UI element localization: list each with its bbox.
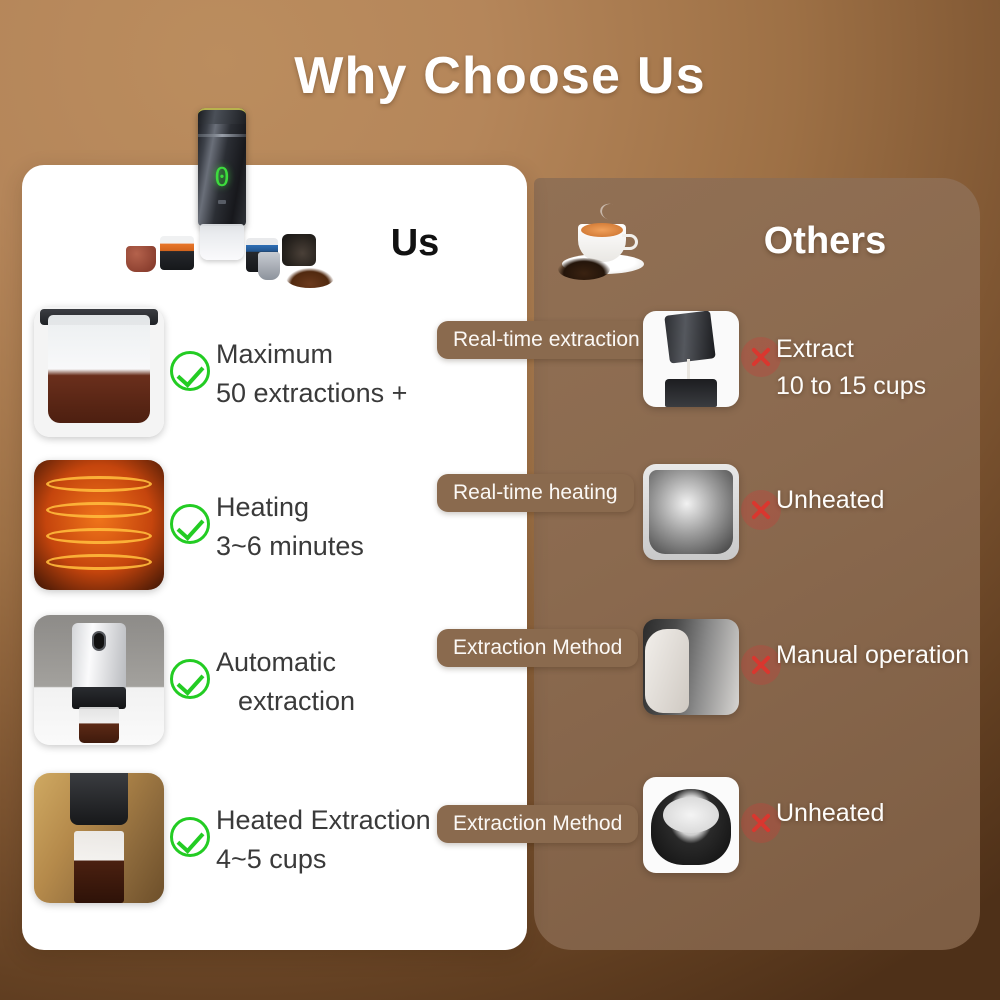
feature-pill-label: Extraction Method <box>437 629 638 667</box>
others-feature-line1: Extract <box>776 335 854 363</box>
cross-circle-icon <box>741 645 781 685</box>
others-feature-text: Unheated <box>776 482 996 519</box>
us-feature-text: Automatic extraction <box>216 643 466 721</box>
us-feature-line2: 4~5 cups <box>216 840 496 879</box>
us-thumbnail <box>34 615 164 745</box>
column-header-others: Others <box>700 220 950 263</box>
check-circle-icon <box>170 659 210 699</box>
coffee-cup-image <box>556 204 656 282</box>
coffee-pod-red-icon <box>126 246 156 272</box>
machine-clear-cup <box>200 224 244 260</box>
check-circle-icon <box>170 351 210 391</box>
page-title: Why Choose Us <box>0 46 1000 106</box>
others-feature-line2: 10 to 15 cups <box>776 372 926 400</box>
feature-pill-label: Extraction Method <box>437 805 638 843</box>
others-feature-text: Extract 10 to 15 cups <box>776 331 996 405</box>
cup-handle-shape <box>622 234 638 250</box>
steam-icon <box>598 202 623 223</box>
us-feature-line1: Heating <box>216 492 309 522</box>
us-thumbnail <box>34 307 164 437</box>
coffee-grounds-pile <box>286 268 334 288</box>
others-feature-line1: Unheated <box>776 799 884 827</box>
coffee-pod-black-icon <box>282 234 316 266</box>
others-feature-line1: Manual operation <box>776 641 969 669</box>
others-thumbnail <box>643 619 739 715</box>
us-feature-line1: Automatic <box>216 647 336 677</box>
others-feature-text: Unheated <box>776 795 996 832</box>
comparison-row: Heating 3~6 minutes Real-time heating Un… <box>0 460 1000 590</box>
coffee-pod-silver-icon <box>258 252 280 280</box>
comparison-row: Heated Extraction 4~5 cups Extraction Me… <box>0 773 1000 903</box>
feature-pill-label: Real-time extraction <box>437 321 656 359</box>
cross-circle-icon <box>741 803 781 843</box>
us-feature-line1: Heated Extraction <box>216 805 431 835</box>
others-thumbnail <box>643 464 739 560</box>
others-feature-line1: Unheated <box>776 486 884 514</box>
comparison-row: Automatic extraction Extraction Method M… <box>0 615 1000 745</box>
us-feature-line2: 3~6 minutes <box>216 527 466 566</box>
comparison-row: Maximum 50 extractions + Real-time extra… <box>0 307 1000 437</box>
others-thumbnail <box>643 777 739 873</box>
us-feature-line1: Maximum <box>216 339 333 369</box>
espresso-machine-cap <box>198 108 246 124</box>
others-thumbnail <box>643 311 739 407</box>
coffee-beans-pile <box>558 258 610 280</box>
us-thumbnail <box>34 773 164 903</box>
us-feature-line2: extraction <box>216 682 466 721</box>
check-circle-icon <box>170 817 210 857</box>
others-feature-text: Manual operation <box>776 637 1000 674</box>
machine-display-value: 0 <box>198 163 246 193</box>
column-header-us: Us <box>355 222 475 265</box>
us-feature-line2: 50 extractions + <box>216 374 466 413</box>
feature-pill-label: Real-time heating <box>437 474 634 512</box>
crema-shape <box>581 223 623 237</box>
coffee-pod-orange-icon <box>160 236 194 270</box>
espresso-machine-ring <box>198 134 246 137</box>
hero-product-image: 0 <box>110 108 325 293</box>
cross-circle-icon <box>741 490 781 530</box>
check-circle-icon <box>170 504 210 544</box>
us-feature-text: Maximum 50 extractions + <box>216 335 466 413</box>
us-thumbnail <box>34 460 164 590</box>
cross-circle-icon <box>741 337 781 377</box>
us-feature-text: Heating 3~6 minutes <box>216 488 466 566</box>
machine-indicator-dot <box>218 200 226 204</box>
